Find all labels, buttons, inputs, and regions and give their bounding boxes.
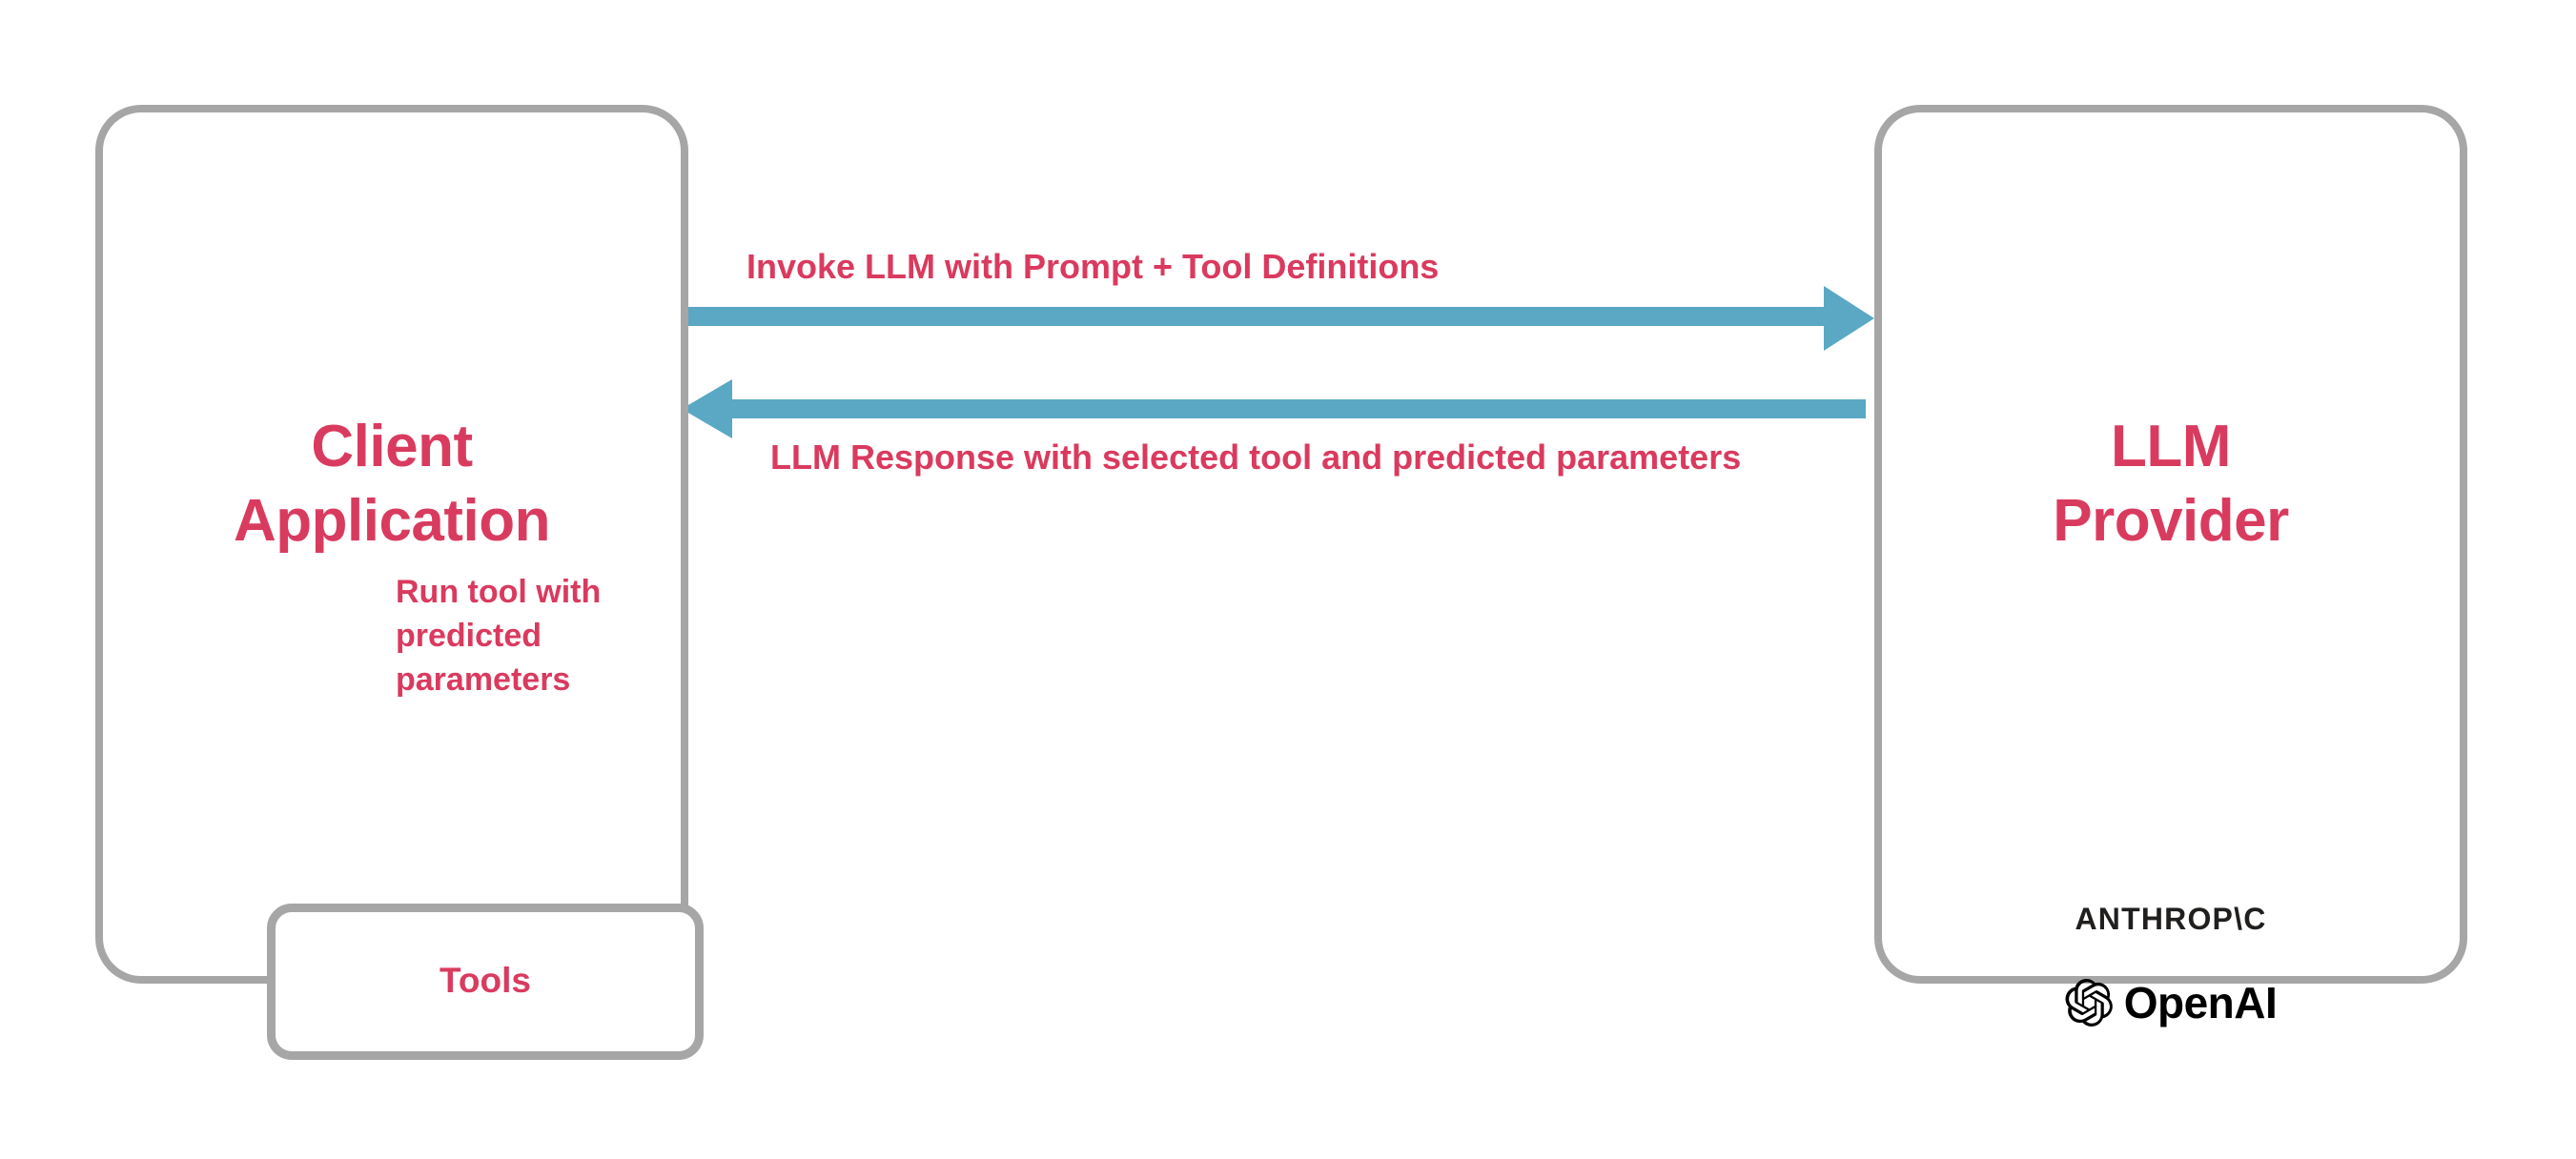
- response-arrow: [682, 379, 1866, 438]
- response-arrow-label: LLM Response with selected tool and pred…: [770, 437, 1741, 478]
- openai-wordmark: OpenAI: [2124, 978, 2278, 1027]
- diagram-canvas: Client Application Tools LLM Provider AN…: [0, 0, 2576, 1159]
- openai-blossom-icon: [2065, 979, 2113, 1027]
- run-tool-arrow-label: Run tool with predicted parameters: [396, 570, 653, 701]
- client-application-box[interactable]: Client Application Tools: [95, 105, 688, 984]
- invoke-arrow: [682, 286, 1874, 351]
- tools-label: Tools: [276, 960, 695, 1002]
- llm-provider-box[interactable]: LLM Provider ANTHROP\C OpenAI: [1874, 105, 2467, 984]
- anthropic-wordmark: ANTHROP\C: [1882, 902, 2460, 937]
- llm-provider-title: LLM Provider: [1882, 410, 2460, 559]
- client-application-title: Client Application: [103, 410, 681, 559]
- openai-logo: OpenAI: [1882, 978, 2460, 1027]
- tools-box[interactable]: Tools: [267, 904, 704, 1060]
- invoke-arrow-label: Invoke LLM with Prompt + Tool Definition…: [746, 246, 1439, 288]
